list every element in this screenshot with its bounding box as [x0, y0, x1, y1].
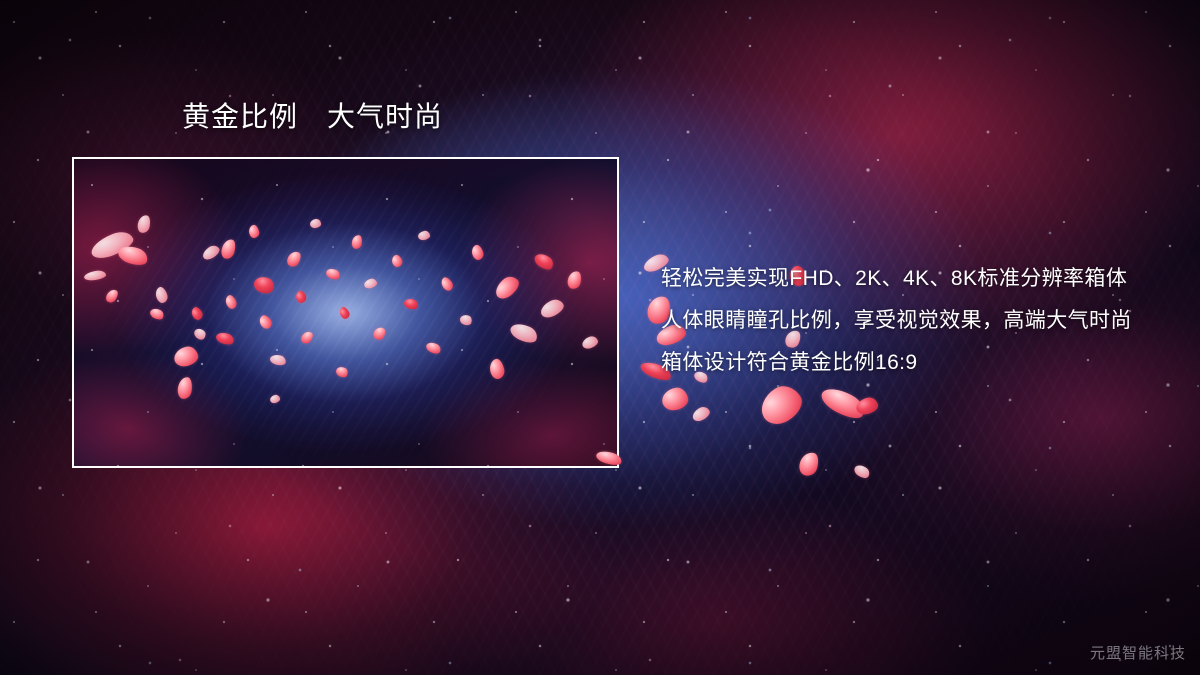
body-line-3: 箱体设计符合黄金比例16:9 — [661, 342, 1161, 384]
petal-icon — [690, 404, 712, 423]
petal-icon — [797, 450, 822, 478]
page-title: 黄金比例 大气时尚 — [182, 102, 443, 133]
petal-icon — [852, 462, 871, 480]
petal-icon — [854, 396, 879, 417]
petal-icon — [818, 382, 869, 423]
watermark: 元盟智能科技 — [1090, 642, 1186, 663]
framed-image — [72, 157, 619, 468]
petal-icon — [660, 386, 689, 412]
body-line-1: 轻松完美实现FHD、2K、4K、8K标准分辨率箱体 — [661, 258, 1161, 300]
body-line-2: 人体眼睛瞳孔比例，享受视觉效果，高端大气时尚 — [661, 300, 1161, 342]
petal-icon — [754, 379, 808, 430]
body-text-block: 轻松完美实现FHD、2K、4K、8K标准分辨率箱体 人体眼睛瞳孔比例，享受视觉效… — [661, 258, 1161, 384]
presentation-slide: 黄金比例 大气时尚 — [0, 0, 1200, 675]
framed-image-stars-icon — [74, 159, 617, 466]
